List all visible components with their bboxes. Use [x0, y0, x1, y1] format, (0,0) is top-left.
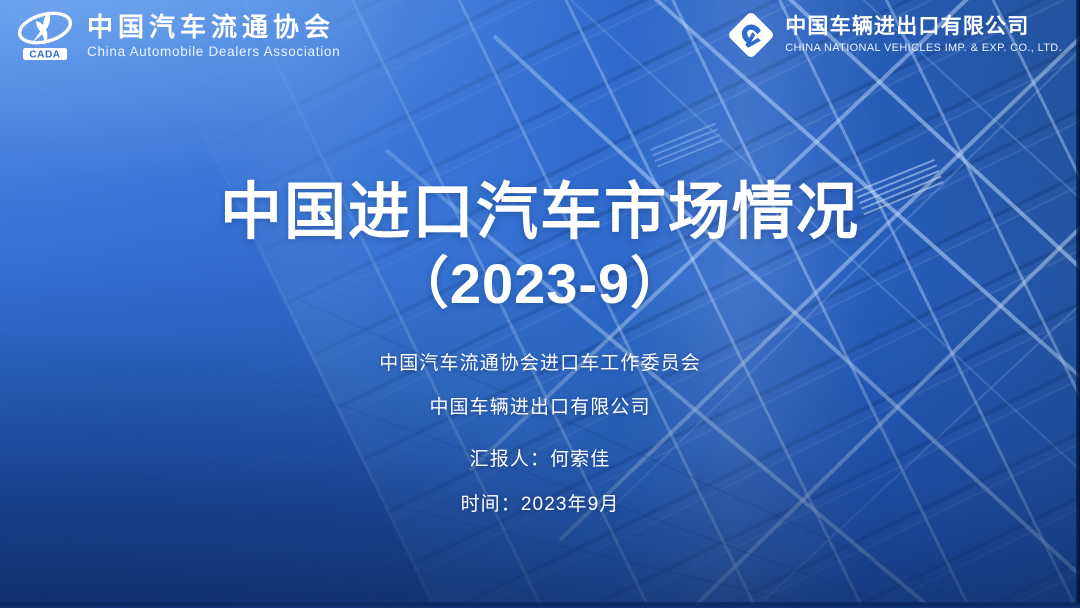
organization-line-1: 中国汽车流通协会进口车工作委员会: [379, 353, 701, 376]
organization-line-2: 中国车辆进出口有限公司: [429, 397, 650, 420]
slide-content: 中国进口汽车市场情况 （2023-9） 中国汽车流通协会进口车工作委员会 中国车…: [0, 0, 1080, 608]
slide-title-period: （2023-9）: [393, 251, 687, 317]
date-line: 时间：2023年9月: [461, 494, 620, 517]
presenter-line: 汇报人：何索佳: [470, 449, 611, 472]
slide-title: 中国进口汽车市场情况: [220, 176, 860, 249]
title-slide: CADA 中国汽车流通协会 China Automobile Dealers A…: [0, 0, 1080, 608]
